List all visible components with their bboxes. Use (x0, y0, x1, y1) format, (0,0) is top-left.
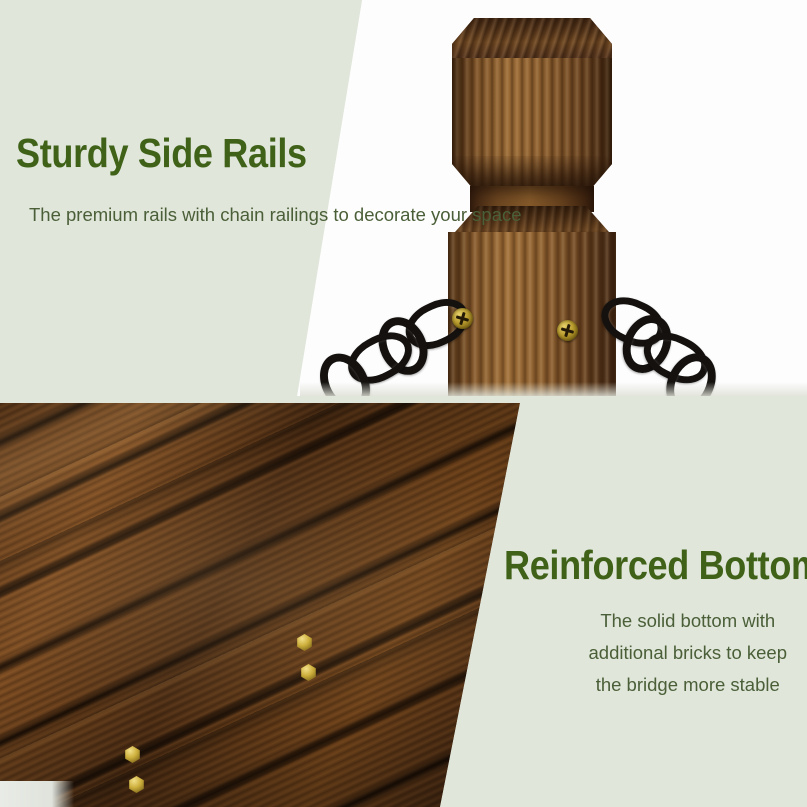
infographic-canvas: Sturdy Side Rails The premium rails with… (0, 0, 807, 807)
finial-top-bevel (452, 18, 612, 58)
post-shaft (448, 206, 616, 396)
brass-screw-right-icon (557, 320, 578, 341)
body-line: the bridge more stable (589, 669, 787, 701)
feature-headline-reinforced-bottom: Reinforced Bottom (504, 545, 807, 586)
feature-panel-sturdy-side-rails: Sturdy Side Rails The premium rails with… (0, 0, 807, 396)
body-line: The premium rails with chain (29, 204, 264, 225)
body-line: railings to decorate your space (270, 204, 522, 225)
brass-screw-left-icon (452, 308, 473, 329)
feature-headline-sturdy-side-rails: Sturdy Side Rails (16, 133, 307, 174)
body-line: additional bricks to keep (589, 637, 787, 669)
floor-shadow (300, 382, 807, 396)
post-shaft-body (448, 232, 616, 396)
feature-body-sturdy-side-rails: The premium rails with chain railings to… (29, 199, 522, 231)
post-finial-cap-icon (452, 18, 612, 190)
bottom-left-gap (0, 781, 74, 807)
body-line: The solid bottom with (589, 605, 787, 637)
finial-bottom-bevel (452, 156, 612, 190)
feature-body-reinforced-bottom: The solid bottom with additional bricks … (589, 605, 807, 701)
